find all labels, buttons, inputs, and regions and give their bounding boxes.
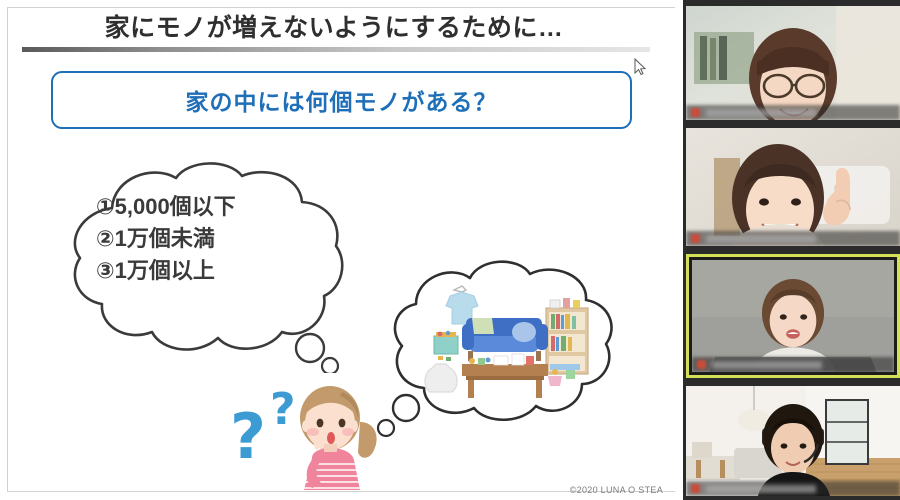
- mic-muted-icon: [691, 484, 700, 493]
- arrow-pointer-icon: [634, 58, 646, 76]
- question-text: 家の中には何個モノがある？: [186, 83, 498, 117]
- participant-tile-1[interactable]: [686, 6, 900, 120]
- puzzled-woman-illustration: [282, 378, 387, 493]
- option-item-2: ②1万個未満: [96, 223, 326, 255]
- participant-name-label: [706, 485, 816, 493]
- options-list: ①5,000個以下 ②1万個未満 ③1万個以上: [96, 191, 326, 287]
- question-mark-large: ?: [230, 400, 266, 473]
- participant-tile-2[interactable]: [686, 128, 900, 246]
- title-divider-rule: [22, 47, 650, 52]
- participant-name-label: [712, 361, 822, 369]
- participant-name-label: [706, 235, 816, 243]
- question-callout-box: 家の中には何個モノがある？: [51, 71, 632, 129]
- mic-muted-icon: [697, 360, 706, 369]
- mic-muted-icon: [691, 234, 700, 243]
- participant-tile-3[interactable]: [686, 254, 900, 378]
- participant-video-panel: [683, 0, 900, 500]
- mic-muted-icon: [691, 108, 700, 117]
- option-item-1: ①5,000個以下: [96, 191, 326, 223]
- bookshelf-illustration: [546, 298, 588, 374]
- participant-name-label: [706, 109, 816, 117]
- shared-slide: 家にモノが増えないようにするために… 家の中には何個モノがある？ ①5,000個…: [0, 0, 683, 500]
- option-item-3: ③1万個以上: [96, 255, 326, 287]
- participant-tile-4[interactable]: [686, 386, 900, 496]
- copyright-notice: ©2020 LUNA O STEA: [570, 485, 663, 495]
- messy-living-room-thought-cloud: [366, 252, 616, 442]
- screen-share-meeting-view: 家にモノが増えないようにするために… 家の中には何個モノがある？ ①5,000個…: [0, 0, 900, 500]
- options-thought-cloud: ①5,000個以下 ②1万個未満 ③1万個以上: [52, 158, 352, 373]
- slide-title: 家にモノが増えないようにするために…: [24, 11, 644, 45]
